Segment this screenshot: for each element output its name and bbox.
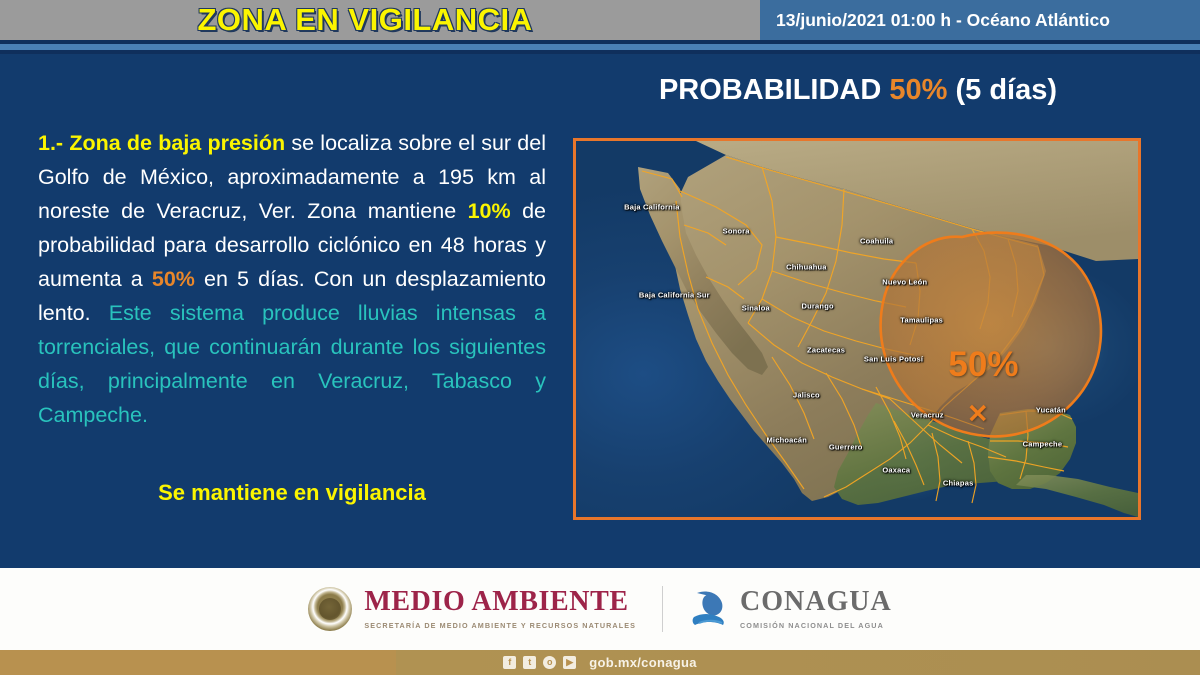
status-message: Se mantiene en vigilancia xyxy=(38,480,546,506)
semarnat-logo: MEDIO AMBIENTE SECRETARÍA DE MEDIO AMBIE… xyxy=(308,587,636,631)
semarnat-subtitle: SECRETARÍA DE MEDIO AMBIENTE Y RECURSOS … xyxy=(364,621,636,630)
state-label: Zacatecas xyxy=(807,345,845,354)
state-label: Nuevo León xyxy=(882,278,927,287)
state-label: Chiapas xyxy=(943,479,974,488)
header-datetime: 13/junio/2021 01:00 h - Océano Atlántico xyxy=(776,10,1110,31)
state-label: Sonora xyxy=(723,227,750,236)
logo-row: MEDIO AMBIENTE SECRETARÍA DE MEDIO AMBIE… xyxy=(308,586,891,632)
semarnat-text: MEDIO AMBIENTE SECRETARÍA DE MEDIO AMBIE… xyxy=(364,588,636,630)
probability-heading: PROBABILIDAD 50% (5 días) xyxy=(573,74,1143,107)
probability-blob-label: 50% xyxy=(948,345,1018,385)
semarnat-name: MEDIO AMBIENTE xyxy=(364,588,636,616)
mexican-eagle-seal-icon xyxy=(308,587,352,631)
state-label: Durango xyxy=(802,302,834,311)
twitter-icon[interactable]: t xyxy=(523,656,536,669)
logo-divider xyxy=(662,586,663,632)
probability-5d-value: 50% xyxy=(152,267,195,291)
state-label: Campeche xyxy=(1023,439,1063,448)
bulletin-lead-label: 1.- Zona de baja presión xyxy=(38,131,285,155)
state-label: Sinaloa xyxy=(742,304,770,313)
state-label: Veracruz xyxy=(911,411,944,420)
bulletin-rain-text: Este sistema produce lluvias intensas a … xyxy=(38,301,546,427)
state-label: Baja California Sur xyxy=(639,291,710,300)
state-label: Oaxaca xyxy=(882,466,910,475)
state-label: Tamaulipas xyxy=(900,315,943,324)
conagua-subtitle: COMISIÓN NACIONAL DEL AGUA xyxy=(740,621,892,630)
probability-heading-suffix: (5 días) xyxy=(955,74,1057,106)
satellite-map[interactable]: Baja CaliforniaSonoraChihuahuaCoahuilaNu… xyxy=(573,138,1141,520)
conagua-name: CONAGUA xyxy=(740,588,892,616)
probability-48h-value: 10% xyxy=(468,199,511,223)
central-america xyxy=(1016,475,1138,517)
storm-center-marker: ✕ xyxy=(967,398,989,429)
map-canvas: Baja CaliforniaSonoraChihuahuaCoahuilaNu… xyxy=(576,141,1138,517)
instagram-icon[interactable]: o xyxy=(543,656,556,669)
state-label: Guerrero xyxy=(829,443,863,452)
state-label: San Luis Potosí xyxy=(864,355,923,364)
footer-social-bar: f t o ▶ gob.mx/conagua xyxy=(0,650,1200,675)
landmass-layer xyxy=(576,141,1138,517)
conagua-text: CONAGUA COMISIÓN NACIONAL DEL AGUA xyxy=(740,588,892,630)
conagua-logo: CONAGUA COMISIÓN NACIONAL DEL AGUA xyxy=(689,587,892,631)
state-label: Michoacán xyxy=(766,435,807,444)
website-url[interactable]: gob.mx/conagua xyxy=(589,655,697,670)
footer-logos: MEDIO AMBIENTE SECRETARÍA DE MEDIO AMBIE… xyxy=(0,568,1200,650)
header-date-container: 13/junio/2021 01:00 h - Océano Atlántico xyxy=(760,0,1200,40)
state-label: Baja California xyxy=(624,202,680,211)
conagua-water-drop-icon xyxy=(689,587,729,631)
bulletin-page: ZONA EN VIGILANCIA 13/junio/2021 01:00 h… xyxy=(0,0,1200,675)
state-label: Yucatán xyxy=(1036,405,1066,414)
body-area: 1.- Zona de baja presión se localiza sob… xyxy=(0,54,1200,568)
bulletin-paragraph: 1.- Zona de baja presión se localiza sob… xyxy=(38,126,546,432)
page-title: ZONA EN VIGILANCIA xyxy=(197,2,562,38)
youtube-icon[interactable]: ▶ xyxy=(563,656,576,669)
probability-heading-prefix: PROBABILIDAD xyxy=(659,74,881,106)
state-label: Coahuila xyxy=(860,236,893,245)
facebook-icon[interactable]: f xyxy=(503,656,516,669)
header-title-container: ZONA EN VIGILANCIA xyxy=(0,0,760,40)
state-label: Jalisco xyxy=(793,390,820,399)
state-label: Chihuahua xyxy=(786,262,827,271)
probability-heading-value: 50% xyxy=(889,74,947,106)
header-bar: ZONA EN VIGILANCIA 13/junio/2021 01:00 h… xyxy=(0,0,1200,40)
bulletin-text-column: 1.- Zona de baja presión se localiza sob… xyxy=(38,126,546,506)
